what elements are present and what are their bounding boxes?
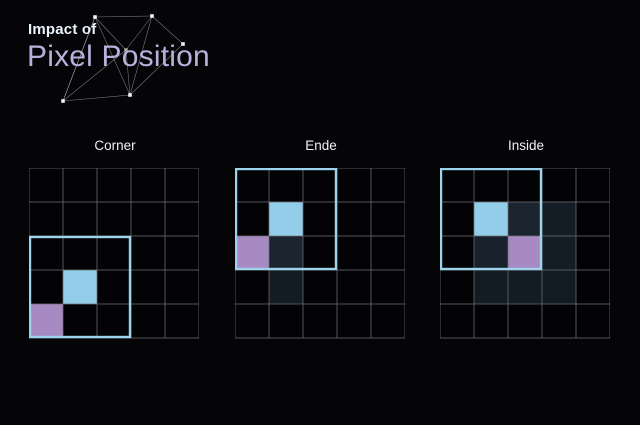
heatmap-cell-slate[interactable] xyxy=(269,236,303,270)
heatmap-cell-purple[interactable] xyxy=(508,236,542,270)
title-block: Impact of Pixel Position xyxy=(0,0,260,110)
heatmap-cell-blue[interactable] xyxy=(269,202,303,236)
panel-title-ende: Ende xyxy=(235,138,407,153)
heatmap-cell-blue[interactable] xyxy=(474,202,508,236)
heatmap-cell-slate-faint[interactable] xyxy=(269,270,303,304)
heatmap-cell-slate-faint[interactable] xyxy=(542,202,576,236)
heatmap-grid-corner[interactable] xyxy=(29,168,199,340)
heatmap-cell-purple[interactable] xyxy=(235,236,269,270)
heatmap-cell-slate[interactable] xyxy=(474,236,508,270)
heatmap-cell-purple[interactable] xyxy=(29,304,63,338)
heatmap-cell-slate-faint[interactable] xyxy=(542,236,576,270)
heatmap-grid-inside[interactable] xyxy=(440,168,610,340)
heatmap-cell-slate-faint[interactable] xyxy=(542,270,576,304)
heatmap-cell-slate-faint[interactable] xyxy=(474,270,508,304)
heatmap-cell-slate[interactable] xyxy=(508,202,542,236)
heatmap-cell-blue[interactable] xyxy=(63,270,97,304)
title-kicker: Impact of xyxy=(28,21,96,38)
slide-canvas: Impact of Pixel Position Corner Ende Ins… xyxy=(0,0,640,425)
heatmap-cell-slate-faint[interactable] xyxy=(508,270,542,304)
heatmap-grid-ende[interactable] xyxy=(235,168,405,340)
panel-title-corner: Corner xyxy=(29,138,201,153)
panel-title-inside: Inside xyxy=(440,138,612,153)
page-title: Pixel Position xyxy=(27,40,210,74)
